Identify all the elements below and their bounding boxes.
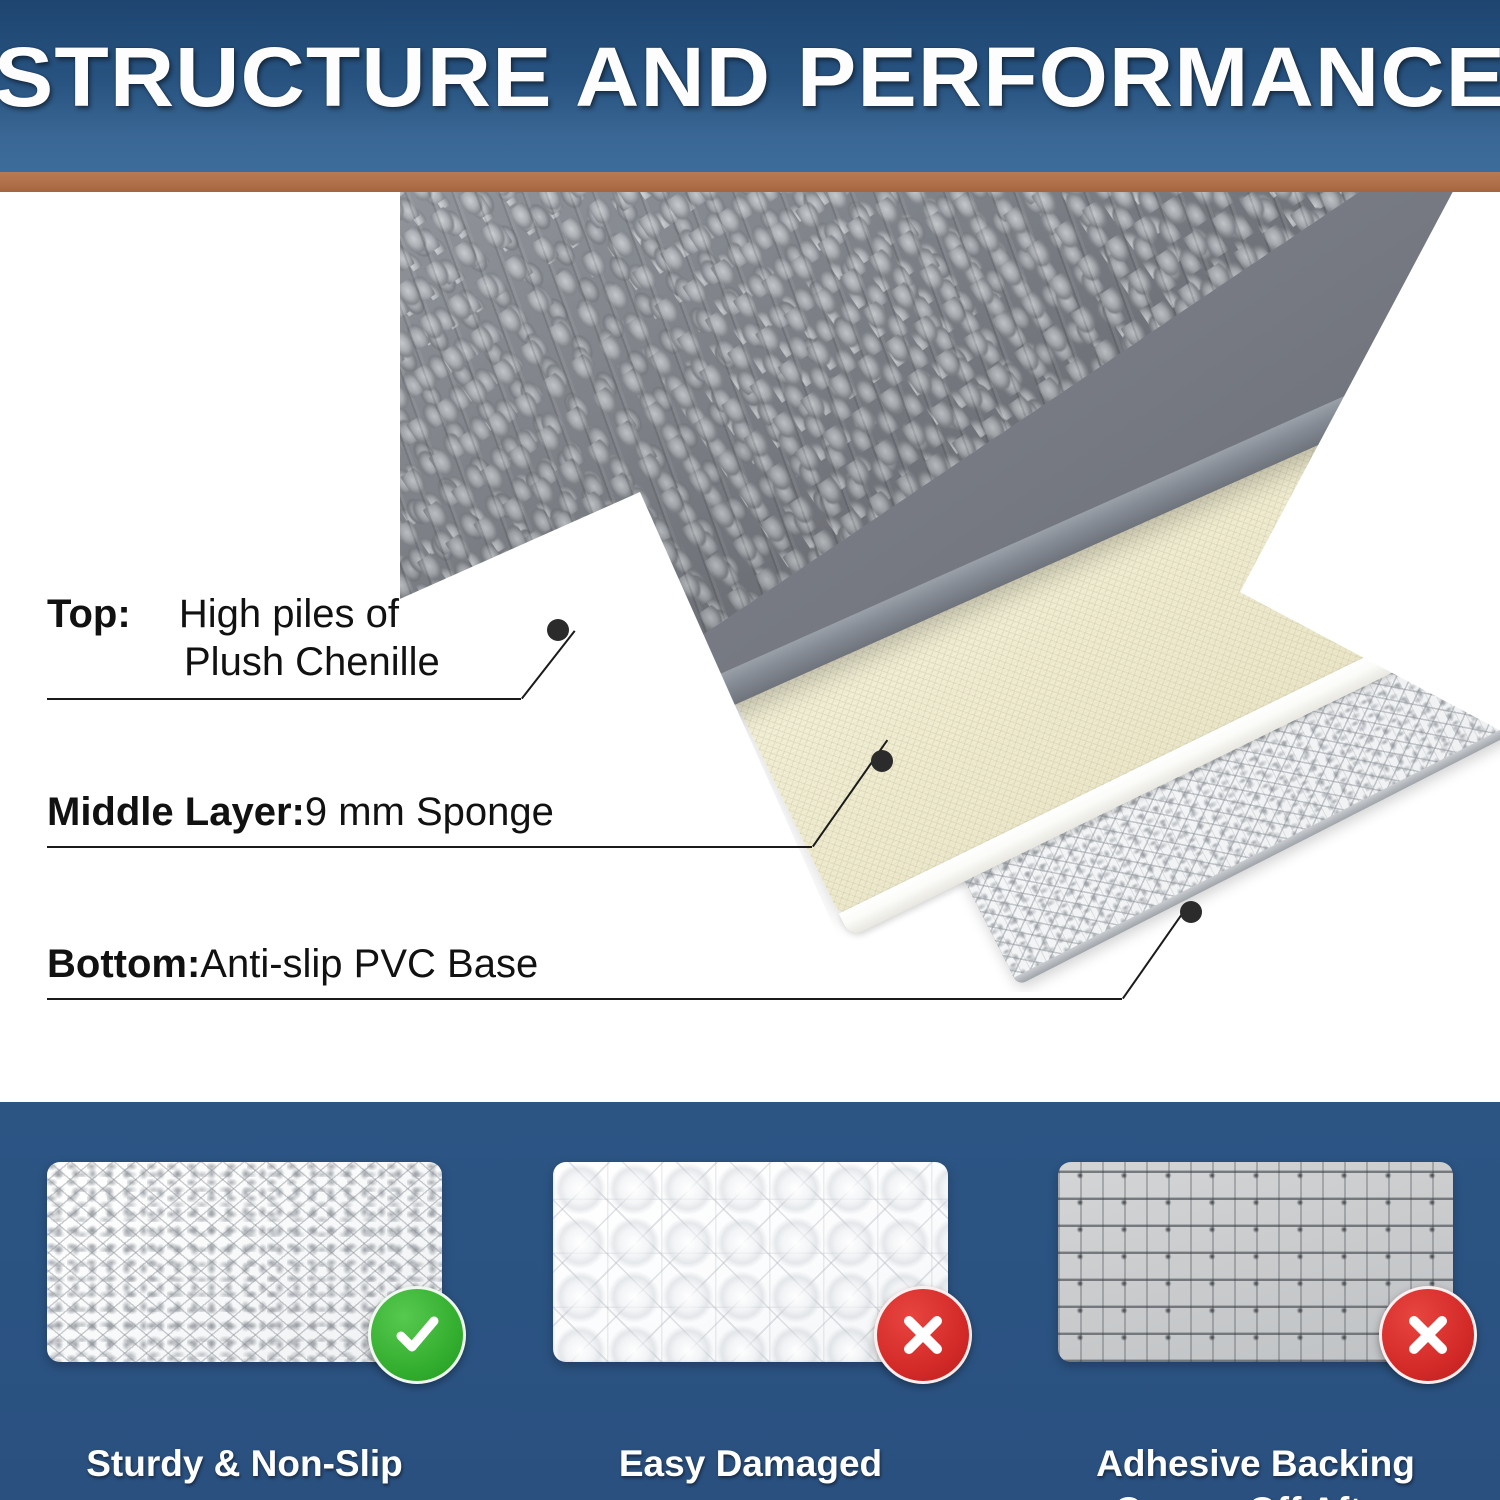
callout-middle-line1: Middle Layer:9 mm Sponge — [47, 788, 554, 836]
product-infographic: STRUCTURE AND PERFORMANCE — [0, 0, 1500, 1500]
cross-icon — [874, 1286, 972, 1384]
callout-top-value-line2: Plush Chenille — [184, 640, 440, 684]
comparison-section: Sturdy & Non-Slip Easy Damaged — [0, 1102, 1500, 1500]
comparison-card-list: Sturdy & Non-Slip Easy Damaged — [0, 1102, 1500, 1500]
page-title: STRUCTURE AND PERFORMANCE — [0, 22, 1500, 132]
callout-bottom: Bottom:Anti-slip PVC Base — [47, 940, 538, 988]
comparison-card-adhesive-backing[interactable]: Adhesive Backing Comes Off After Washing — [1058, 1162, 1453, 1362]
comparison-caption-adhesive-backing-line1: Adhesive Backing — [1038, 1440, 1473, 1487]
callout-bottom-value: Anti-slip PVC Base — [200, 942, 538, 986]
header-divider-bar — [0, 172, 1500, 192]
callout-top-label: Top: — [47, 592, 131, 636]
comparison-caption-easy-damaged-line1: Easy Damaged — [553, 1440, 948, 1487]
comparison-caption-sturdy-line1: Sturdy & Non-Slip — [47, 1440, 442, 1487]
check-icon — [368, 1286, 466, 1384]
comparison-card-sturdy[interactable]: Sturdy & Non-Slip — [47, 1162, 442, 1362]
callout-top-value-line1: High piles of — [179, 592, 399, 636]
callout-top-line2: Plush Chenille — [47, 638, 440, 686]
callout-bottom-rule — [47, 998, 1122, 1000]
callout-bottom-label: Bottom: — [47, 942, 200, 986]
callout-middle: Middle Layer:9 mm Sponge — [47, 788, 554, 836]
layer-structure-photo: Top: High piles of Plush Chenille Middle… — [0, 192, 1500, 1102]
comparison-caption-easy-damaged: Easy Damaged — [553, 1440, 948, 1487]
callout-middle-rule — [47, 846, 812, 848]
comparison-caption-adhesive-backing: Adhesive Backing Comes Off After Washing — [1038, 1440, 1473, 1500]
callout-bottom-line1: Bottom:Anti-slip PVC Base — [47, 940, 538, 988]
callout-bottom-anchor-dot — [1180, 901, 1202, 923]
callout-top: Top: High piles of Plush Chenille — [47, 590, 440, 686]
header-banner: STRUCTURE AND PERFORMANCE — [0, 0, 1500, 172]
cross-icon-2 — [1379, 1286, 1477, 1384]
comparison-caption-adhesive-backing-line2: Comes Off After Washing — [1038, 1487, 1473, 1500]
callout-middle-label: Middle Layer: — [47, 790, 305, 834]
comparison-caption-sturdy: Sturdy & Non-Slip — [47, 1440, 442, 1487]
comparison-card-easy-damaged[interactable]: Easy Damaged — [553, 1162, 948, 1362]
callout-middle-value: 9 mm Sponge — [305, 790, 554, 834]
callout-top-anchor-dot — [547, 619, 569, 641]
callout-top-rule — [47, 698, 521, 700]
callout-top-line1: Top: High piles of — [47, 590, 440, 638]
callout-middle-anchor-dot — [871, 750, 893, 772]
